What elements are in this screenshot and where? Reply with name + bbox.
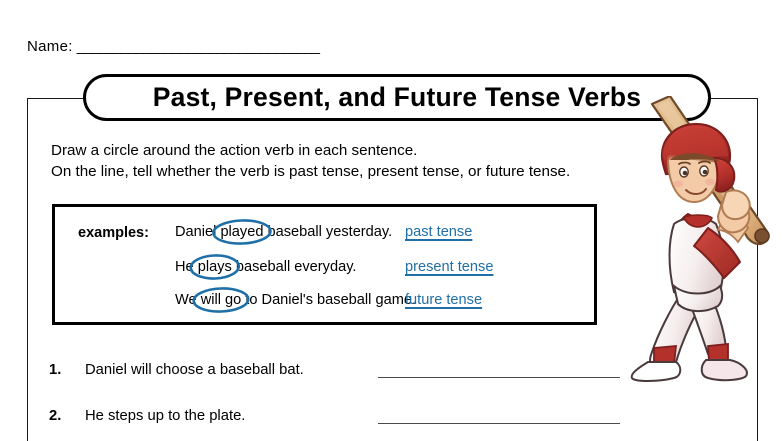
worksheet-page: Name:_________________________________ P… [0, 0, 784, 441]
head [662, 124, 734, 202]
example-sentence: We will go to Daniel's baseball game. [175, 292, 416, 308]
page-title: Past, Present, and Future Tense Verbs [153, 84, 642, 111]
question-text: Daniel will choose a baseball bat. [85, 362, 304, 378]
example-answer: future tense [405, 292, 482, 308]
question-number: 2. [49, 408, 61, 424]
question-answer-line[interactable] [378, 423, 620, 424]
examples-box: examples: Daniel played baseball yesterd… [52, 204, 597, 325]
example-text-after: baseball everyday. [232, 259, 357, 275]
name-blank-line[interactable]: _________________________________ [77, 38, 319, 55]
example-row: We will go to Daniel's baseball game. fu… [175, 290, 595, 320]
example-text-before: He [175, 259, 198, 275]
example-row: Daniel played baseball yesterday. past t… [175, 222, 595, 252]
question-answer-line[interactable] [378, 377, 620, 378]
circled-verb: will go [201, 292, 242, 308]
examples-label: examples: [78, 225, 149, 241]
name-field-row: Name:_________________________________ [27, 38, 319, 55]
example-verb: will go [201, 292, 242, 308]
question-text: He steps up to the plate. [85, 408, 245, 424]
example-sentence: He plays baseball everyday. [175, 259, 356, 275]
example-text-after: baseball yesterday. [263, 224, 392, 240]
instruction-line-2: On the line, tell whether the verb is pa… [51, 161, 570, 182]
example-sentence: Daniel played baseball yesterday. [175, 224, 392, 240]
instructions: Draw a circle around the action verb in … [51, 140, 570, 182]
example-answer: present tense [405, 259, 493, 275]
question-number: 1. [49, 362, 61, 378]
circled-verb: plays [198, 259, 232, 275]
example-text-after: to Daniel's baseball game. [241, 292, 416, 308]
example-verb: plays [198, 259, 232, 275]
example-verb: played [220, 224, 263, 240]
name-label: Name: [27, 38, 73, 55]
example-answer: past tense [405, 224, 472, 240]
example-text-before: We [175, 292, 201, 308]
example-text-before: Daniel [175, 224, 220, 240]
baseball-batter-illustration [596, 96, 784, 382]
example-row: He plays baseball everyday. present tens… [175, 257, 595, 287]
circled-verb: played [220, 224, 263, 240]
instruction-line-1: Draw a circle around the action verb in … [51, 140, 570, 161]
